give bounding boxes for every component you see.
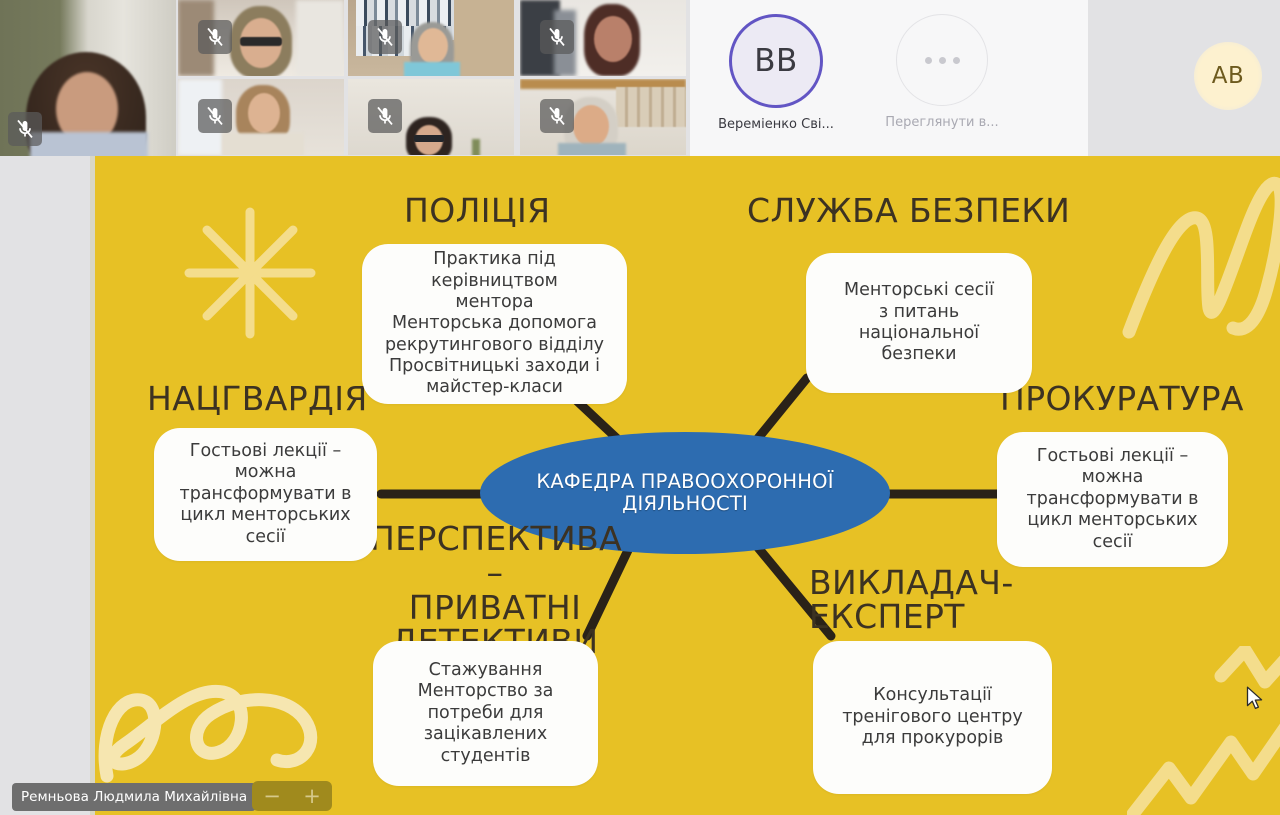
zoom-controls[interactable]: − + (252, 781, 332, 811)
center-node-label: КАФЕДРА ПРАВООХОРОННОЇ ДІЯЛЬНОСТІ (480, 471, 890, 515)
card-perspective-text: Стажування Менторство за потреби для зац… (408, 660, 564, 767)
mic-muted-icon (368, 99, 402, 133)
avatar-initials: ВВ (754, 43, 798, 79)
mic-muted-icon (198, 20, 232, 54)
avatar-initials: AB (1212, 63, 1245, 89)
section-label-police: ПОЛІЦІЯ (404, 194, 550, 227)
mic-muted-icon (540, 99, 574, 133)
participant-tile-6[interactable] (520, 79, 686, 155)
presentation-slide[interactable]: КАФЕДРА ПРАВООХОРОННОЇ ДІЯЛЬНОСТІ ПОЛІЦІ… (95, 156, 1280, 815)
participant-tile-3[interactable] (520, 0, 686, 76)
roster-entry-label: Вереміенко Сві... (696, 117, 856, 132)
section-label-expert: ВИКЛАДАЧ- ЕКСПЕРТ (809, 566, 1014, 635)
avatar: ВВ (729, 14, 823, 108)
right-avatar-pane: AB (1088, 0, 1280, 156)
mic-muted-icon (368, 20, 402, 54)
zoom-in-button[interactable]: + (292, 781, 332, 811)
card-perspective[interactable]: Стажування Менторство за потреби для зац… (373, 641, 598, 786)
card-expert[interactable]: Консультації тренігового центру для прок… (813, 641, 1052, 794)
more-dots-icon (896, 14, 988, 106)
mic-muted-icon (540, 20, 574, 54)
participant-tile-5[interactable] (348, 79, 514, 155)
card-expert-text: Консультації тренігового центру для прок… (832, 685, 1033, 749)
roster-entry-label: Переглянути в... (862, 115, 1022, 130)
roster-entry-veremiienko[interactable]: ВВ Вереміенко Сві... (696, 14, 856, 132)
card-natguard-text: Гостьові лекції – можна трансформувати в… (170, 441, 362, 548)
avatar[interactable]: AB (1194, 42, 1262, 110)
participant-tile-2[interactable] (348, 0, 514, 76)
section-label-security: СЛУЖБА БЕЗПЕКИ (747, 194, 1070, 227)
card-natguard[interactable]: Гостьові лекції – можна трансформувати в… (154, 428, 377, 561)
card-security[interactable]: Менторські сесії з питань національної б… (806, 253, 1032, 393)
card-police[interactable]: Практика під керівництвом ментора Ментор… (362, 244, 627, 404)
meeting-screen: ВВ Вереміенко Сві... Переглянути в... AB (0, 0, 1280, 815)
mic-muted-icon (198, 99, 232, 133)
self-video-tile[interactable] (0, 0, 176, 156)
participant-tile-4[interactable] (178, 79, 344, 155)
section-label-natguard: НАЦГВАРДІЯ (147, 382, 368, 415)
active-speaker-label: Ремньова Людмила Михайлівна (21, 789, 247, 805)
card-prosecution-text: Гостьові лекції – можна трансформувати в… (1017, 446, 1209, 553)
card-prosecution[interactable]: Гостьові лекції – можна трансформувати в… (997, 432, 1228, 567)
active-speaker-name: Ремньова Людмила Михайлівна (12, 783, 256, 811)
zoom-out-button[interactable]: − (252, 781, 292, 811)
card-security-text: Менторські сесії з питань національної б… (834, 280, 1004, 365)
card-police-text: Практика під керівництвом ментора Ментор… (362, 249, 627, 398)
roster-entry-view-more[interactable]: Переглянути в... (862, 14, 1022, 130)
shared-slide-area: КАФЕДРА ПРАВООХОРОННОЇ ДІЯЛЬНОСТІ ПОЛІЦІ… (0, 156, 1280, 815)
participant-tile-1[interactable] (178, 0, 344, 76)
section-label-prosecution: ПРОКУРАТУРА (1000, 382, 1244, 415)
participant-roster: ВВ Вереміенко Сві... Переглянути в... (690, 0, 1088, 156)
mic-muted-icon (8, 112, 42, 146)
mouse-cursor (1246, 686, 1264, 711)
